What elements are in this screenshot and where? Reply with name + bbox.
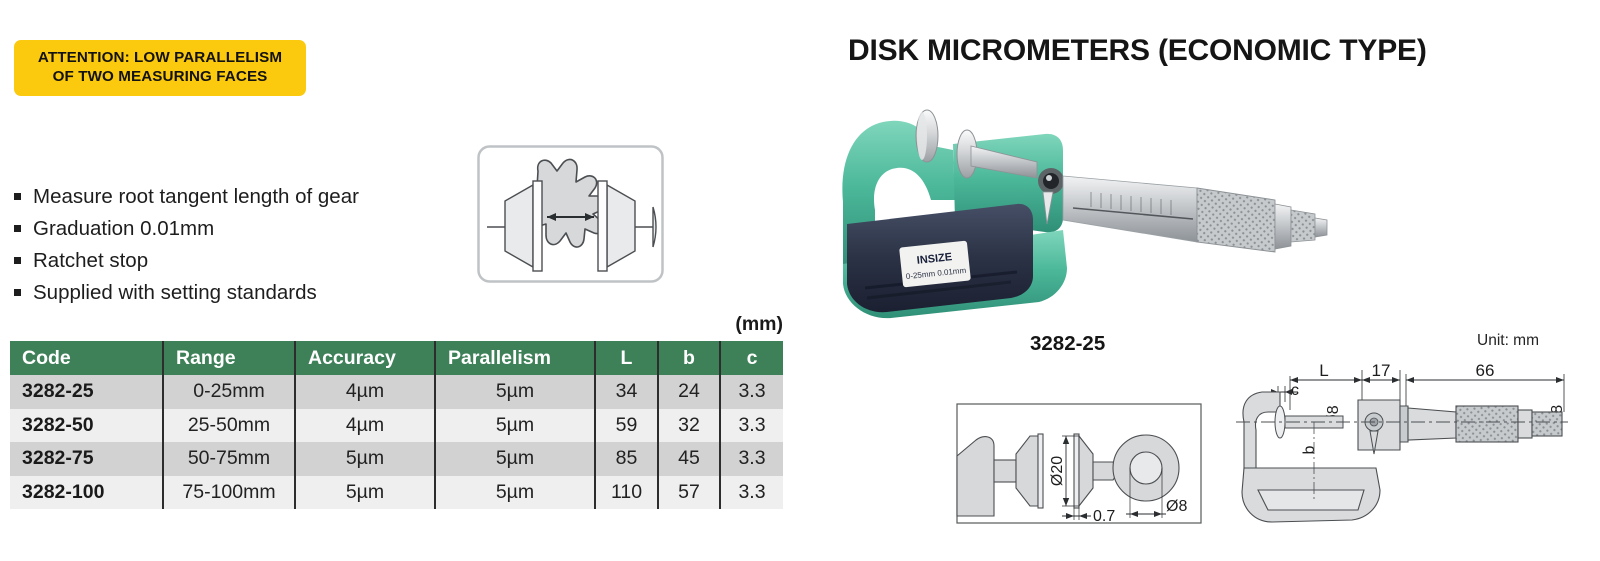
unit-label: Unit: mm xyxy=(1477,332,1539,350)
anvil-detail-drawing: Ø20 0.7 Ø8 xyxy=(950,396,1205,531)
cell-b: 24 xyxy=(658,375,720,409)
cell-l: 85 xyxy=(595,442,658,476)
cell-b: 32 xyxy=(658,409,720,443)
bullet-square-icon xyxy=(14,289,21,296)
cell-c: 3.3 xyxy=(720,409,783,443)
cell-c: 3.3 xyxy=(720,442,783,476)
feature-item: Graduation 0.01mm xyxy=(14,215,454,242)
feature-label: Graduation 0.01mm xyxy=(33,215,214,242)
specification-table: Code Range Accuracy Parallelism L b c 32… xyxy=(10,341,783,509)
column-header-c: c xyxy=(720,341,783,375)
column-header-b: b xyxy=(658,341,720,375)
table-row: 3282-100 75-100mm 5µm 5µm 110 57 3.3 xyxy=(10,476,783,510)
cell-accuracy: 4µm xyxy=(295,375,435,409)
table-header-row: Code Range Accuracy Parallelism L b c xyxy=(10,341,783,375)
bullet-square-icon xyxy=(14,225,21,232)
dim-disk-diameter: Ø20 xyxy=(1049,456,1066,486)
cell-accuracy: 5µm xyxy=(295,476,435,510)
cell-range: 25-50mm xyxy=(163,409,295,443)
cell-code: 3282-25 xyxy=(10,375,163,409)
column-header-l: L xyxy=(595,341,658,375)
cell-range: 0-25mm xyxy=(163,375,295,409)
column-header-code: Code xyxy=(10,341,163,375)
cell-parallelism: 5µm xyxy=(435,476,595,510)
feature-label: Supplied with setting standards xyxy=(33,279,317,306)
feature-label: Measure root tangent length of gear xyxy=(33,183,359,210)
cell-range: 75-100mm xyxy=(163,476,295,510)
attention-line-2: OF TWO MEASURING FACES xyxy=(20,68,300,87)
attention-badge: ATTENTION: LOW PARALLELISM OF TWO MEASUR… xyxy=(14,40,306,96)
feature-item: Measure root tangent length of gear xyxy=(14,183,454,210)
cell-parallelism: 5µm xyxy=(435,442,595,476)
cell-c: 3.3 xyxy=(720,375,783,409)
feature-item: Ratchet stop xyxy=(14,247,454,274)
cell-l: 110 xyxy=(595,476,658,510)
table-row: 3282-25 0-25mm 4µm 5µm 34 24 3.3 xyxy=(10,375,783,409)
cell-code: 3282-75 xyxy=(10,442,163,476)
feature-item: Supplied with setting standards xyxy=(14,279,454,306)
product-model-label: 3282-25 xyxy=(1030,332,1105,356)
table-row: 3282-75 50-75mm 5µm 5µm 85 45 3.3 xyxy=(10,442,783,476)
dim-c: c xyxy=(1291,382,1299,399)
attention-line-1: ATTENTION: LOW PARALLELISM xyxy=(20,49,300,68)
cell-accuracy: 5µm xyxy=(295,442,435,476)
cell-code: 3282-100 xyxy=(10,476,163,510)
cell-accuracy: 4µm xyxy=(295,409,435,443)
gear-measurement-illustration xyxy=(477,145,664,283)
cell-b: 45 xyxy=(658,442,720,476)
dim-spindle-diameter: Ø8 xyxy=(1166,498,1187,515)
cell-parallelism: 5µm xyxy=(435,409,595,443)
column-header-accuracy: Accuracy xyxy=(295,341,435,375)
dimension-drawing: L 17 66 c Ø8 b Ø18 xyxy=(1228,350,1596,550)
cell-code: 3282-50 xyxy=(10,409,163,443)
dim-17: 17 xyxy=(1372,361,1391,380)
page-title: DISK MICROMETERS (ECONOMIC TYPE) xyxy=(848,34,1588,68)
cell-l: 59 xyxy=(595,409,658,443)
cell-l: 34 xyxy=(595,375,658,409)
feature-list: Measure root tangent length of gear Grad… xyxy=(14,183,454,311)
dim-66: 66 xyxy=(1476,361,1495,380)
dim-L: L xyxy=(1319,361,1328,380)
bullet-square-icon xyxy=(14,193,21,200)
table-row: 3282-50 25-50mm 4µm 5µm 59 32 3.3 xyxy=(10,409,783,443)
feature-label: Ratchet stop xyxy=(33,247,148,274)
bullet-square-icon xyxy=(14,257,21,264)
product-photo: INSIZE 0-25mm 0.01mm xyxy=(805,92,1345,322)
cell-b: 57 xyxy=(658,476,720,510)
cell-c: 3.3 xyxy=(720,476,783,510)
dim-b: b xyxy=(1301,445,1318,454)
table-unit-label: (mm) xyxy=(0,313,783,336)
dim-disk-thickness: 0.7 xyxy=(1093,508,1115,525)
column-header-parallelism: Parallelism xyxy=(435,341,595,375)
column-header-range: Range xyxy=(163,341,295,375)
cell-range: 50-75mm xyxy=(163,442,295,476)
cell-parallelism: 5µm xyxy=(435,375,595,409)
